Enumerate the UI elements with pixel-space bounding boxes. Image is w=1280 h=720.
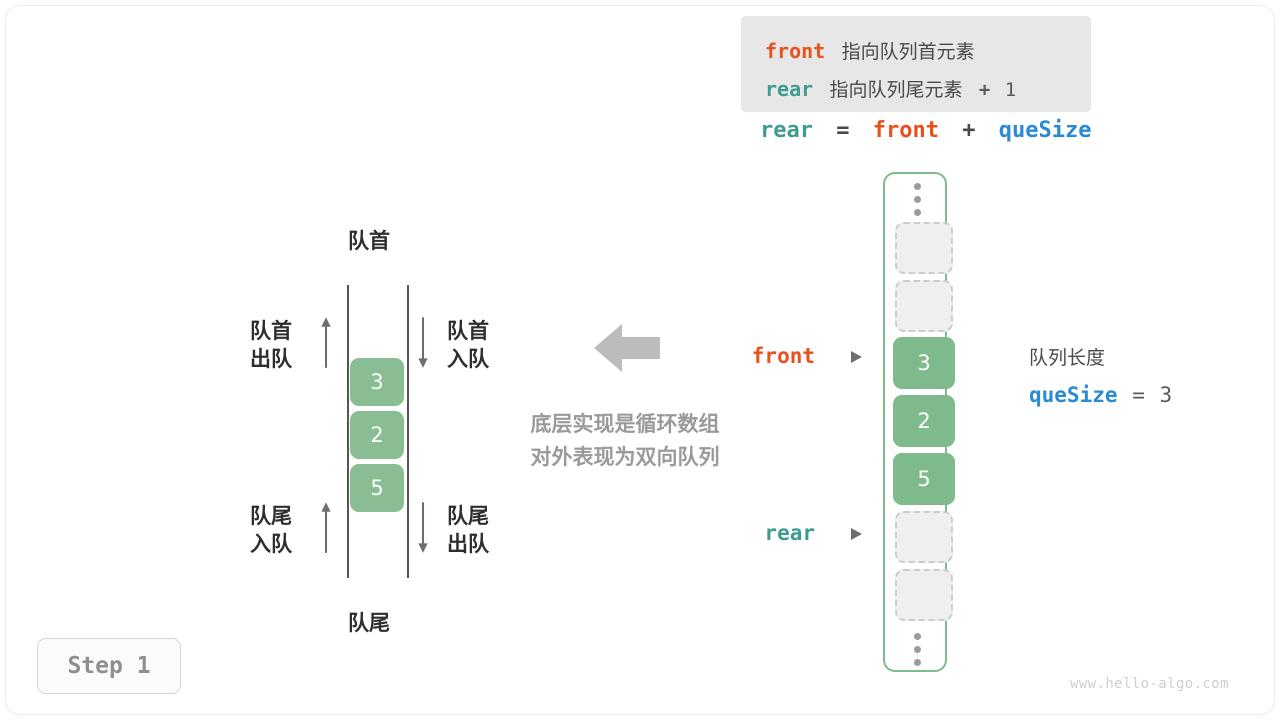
array-bottom-ellipsis-icon (885, 628, 949, 670)
quesize-value: 3 (1160, 383, 1173, 407)
deque-label-rear-enqueue: 队尾 入队 (250, 503, 292, 558)
quesize-var: queSize (1029, 383, 1118, 407)
deque-label-rear-enqueue-line1: 队尾 (250, 503, 292, 531)
front-pointer-arrow-icon (851, 351, 862, 363)
pointer-legend-box: front 指向队列首元素 rear 指向队列尾元素 + 1 (741, 16, 1091, 112)
legend-suffix-value: 1 (1005, 79, 1016, 101)
array-cell-filled[interactable]: 2 (893, 395, 955, 447)
formula-operand-front: front (873, 118, 939, 143)
legend-term-front: front (765, 39, 825, 63)
deque-label-rear-dequeue-line1: 队尾 (447, 503, 489, 531)
formula-equals: = (836, 118, 849, 143)
rear-pointer-label: rear (700, 521, 815, 545)
dot (914, 183, 921, 190)
deque-label-front-enqueue-line2: 入队 (447, 346, 489, 374)
quesize-note-title: 队列长度 (1029, 340, 1172, 376)
arrow-up-front-dequeue-icon (320, 312, 332, 374)
deque-cell[interactable]: 3 (350, 358, 404, 406)
deque-label-rear-dequeue-line2: 出队 (447, 531, 489, 559)
deque-cell[interactable]: 2 (350, 411, 404, 459)
deque-bottom-label: 队尾 (348, 610, 390, 638)
implementation-caption: 底层实现是循环数组 对外表现为双向队列 (502, 408, 748, 473)
quesize-note: 队列长度 queSize = 3 (1029, 340, 1172, 416)
array-cell-value: 3 (917, 351, 930, 375)
legend-row-rear: rear 指向队列尾元素 + 1 (765, 79, 1016, 100)
deque-label-rear-enqueue-line2: 入队 (250, 531, 292, 559)
deque-label-front-enqueue-line1: 队首 (447, 318, 489, 346)
step-badge: Step 1 (37, 638, 181, 694)
deque-cell-value: 5 (370, 476, 383, 500)
legend-suffix-op: + (979, 79, 990, 101)
array-cell-filled[interactable]: 5 (893, 453, 955, 505)
diagram-canvas: front 指向队列首元素 rear 指向队列尾元素 + 1 rear = fr… (0, 0, 1280, 720)
quesize-equals: = (1132, 383, 1145, 407)
dot (914, 209, 921, 216)
legend-row-front: front 指向队列首元素 (765, 41, 975, 62)
array-cell-empty[interactable] (895, 511, 953, 563)
caption-line-2: 对外表现为双向队列 (502, 441, 748, 474)
deque-label-front-dequeue: 队首 出队 (250, 318, 292, 373)
deque-rail-left (347, 285, 349, 578)
arrow-up-rear-enqueue-icon (320, 497, 332, 559)
dot (914, 633, 921, 640)
dot (914, 646, 921, 653)
formula-lhs: rear (760, 118, 813, 143)
formula-plus: + (962, 118, 975, 143)
legend-term-rear: rear (765, 77, 813, 101)
legend-desc-rear: 指向队列尾元素 (830, 79, 963, 101)
array-cell-value: 5 (917, 467, 930, 491)
front-pointer-label: front (700, 344, 815, 368)
array-cell-empty[interactable] (895, 280, 953, 332)
deque-label-front-dequeue-line1: 队首 (250, 318, 292, 346)
quesize-note-expression: queSize = 3 (1029, 376, 1172, 416)
caption-line-1: 底层实现是循环数组 (502, 408, 748, 441)
watermark: www.hello-algo.com (1070, 676, 1229, 692)
dot (914, 196, 921, 203)
array-cell-empty[interactable] (895, 222, 953, 274)
arrow-down-rear-dequeue-icon (417, 497, 429, 559)
array-top-ellipsis-icon (885, 178, 949, 220)
array-cell-empty[interactable] (895, 569, 953, 621)
deque-label-rear-dequeue: 队尾 出队 (447, 503, 489, 558)
legend-desc-front: 指向队列首元素 (842, 41, 975, 63)
dot (914, 659, 921, 666)
array-cell-filled[interactable]: 3 (893, 337, 955, 389)
deque-cell-value: 3 (370, 370, 383, 394)
arrow-down-front-enqueue-icon (417, 312, 429, 374)
deque-label-front-enqueue: 队首 入队 (447, 318, 489, 373)
rear-pointer-arrow-icon (851, 528, 862, 540)
array-cell-value: 2 (917, 409, 930, 433)
deque-rail-right (407, 285, 409, 578)
deque-top-label: 队首 (348, 228, 390, 256)
circular-array-container: 3 2 5 (883, 172, 947, 672)
deque-cell-value: 2 (370, 423, 383, 447)
big-left-arrow-icon (594, 320, 660, 376)
formula-rear-equals: rear = front + queSize (760, 120, 1091, 142)
formula-operand-quesize: queSize (999, 118, 1092, 143)
deque-label-front-dequeue-line2: 出队 (250, 346, 292, 374)
deque-cell[interactable]: 5 (350, 464, 404, 512)
